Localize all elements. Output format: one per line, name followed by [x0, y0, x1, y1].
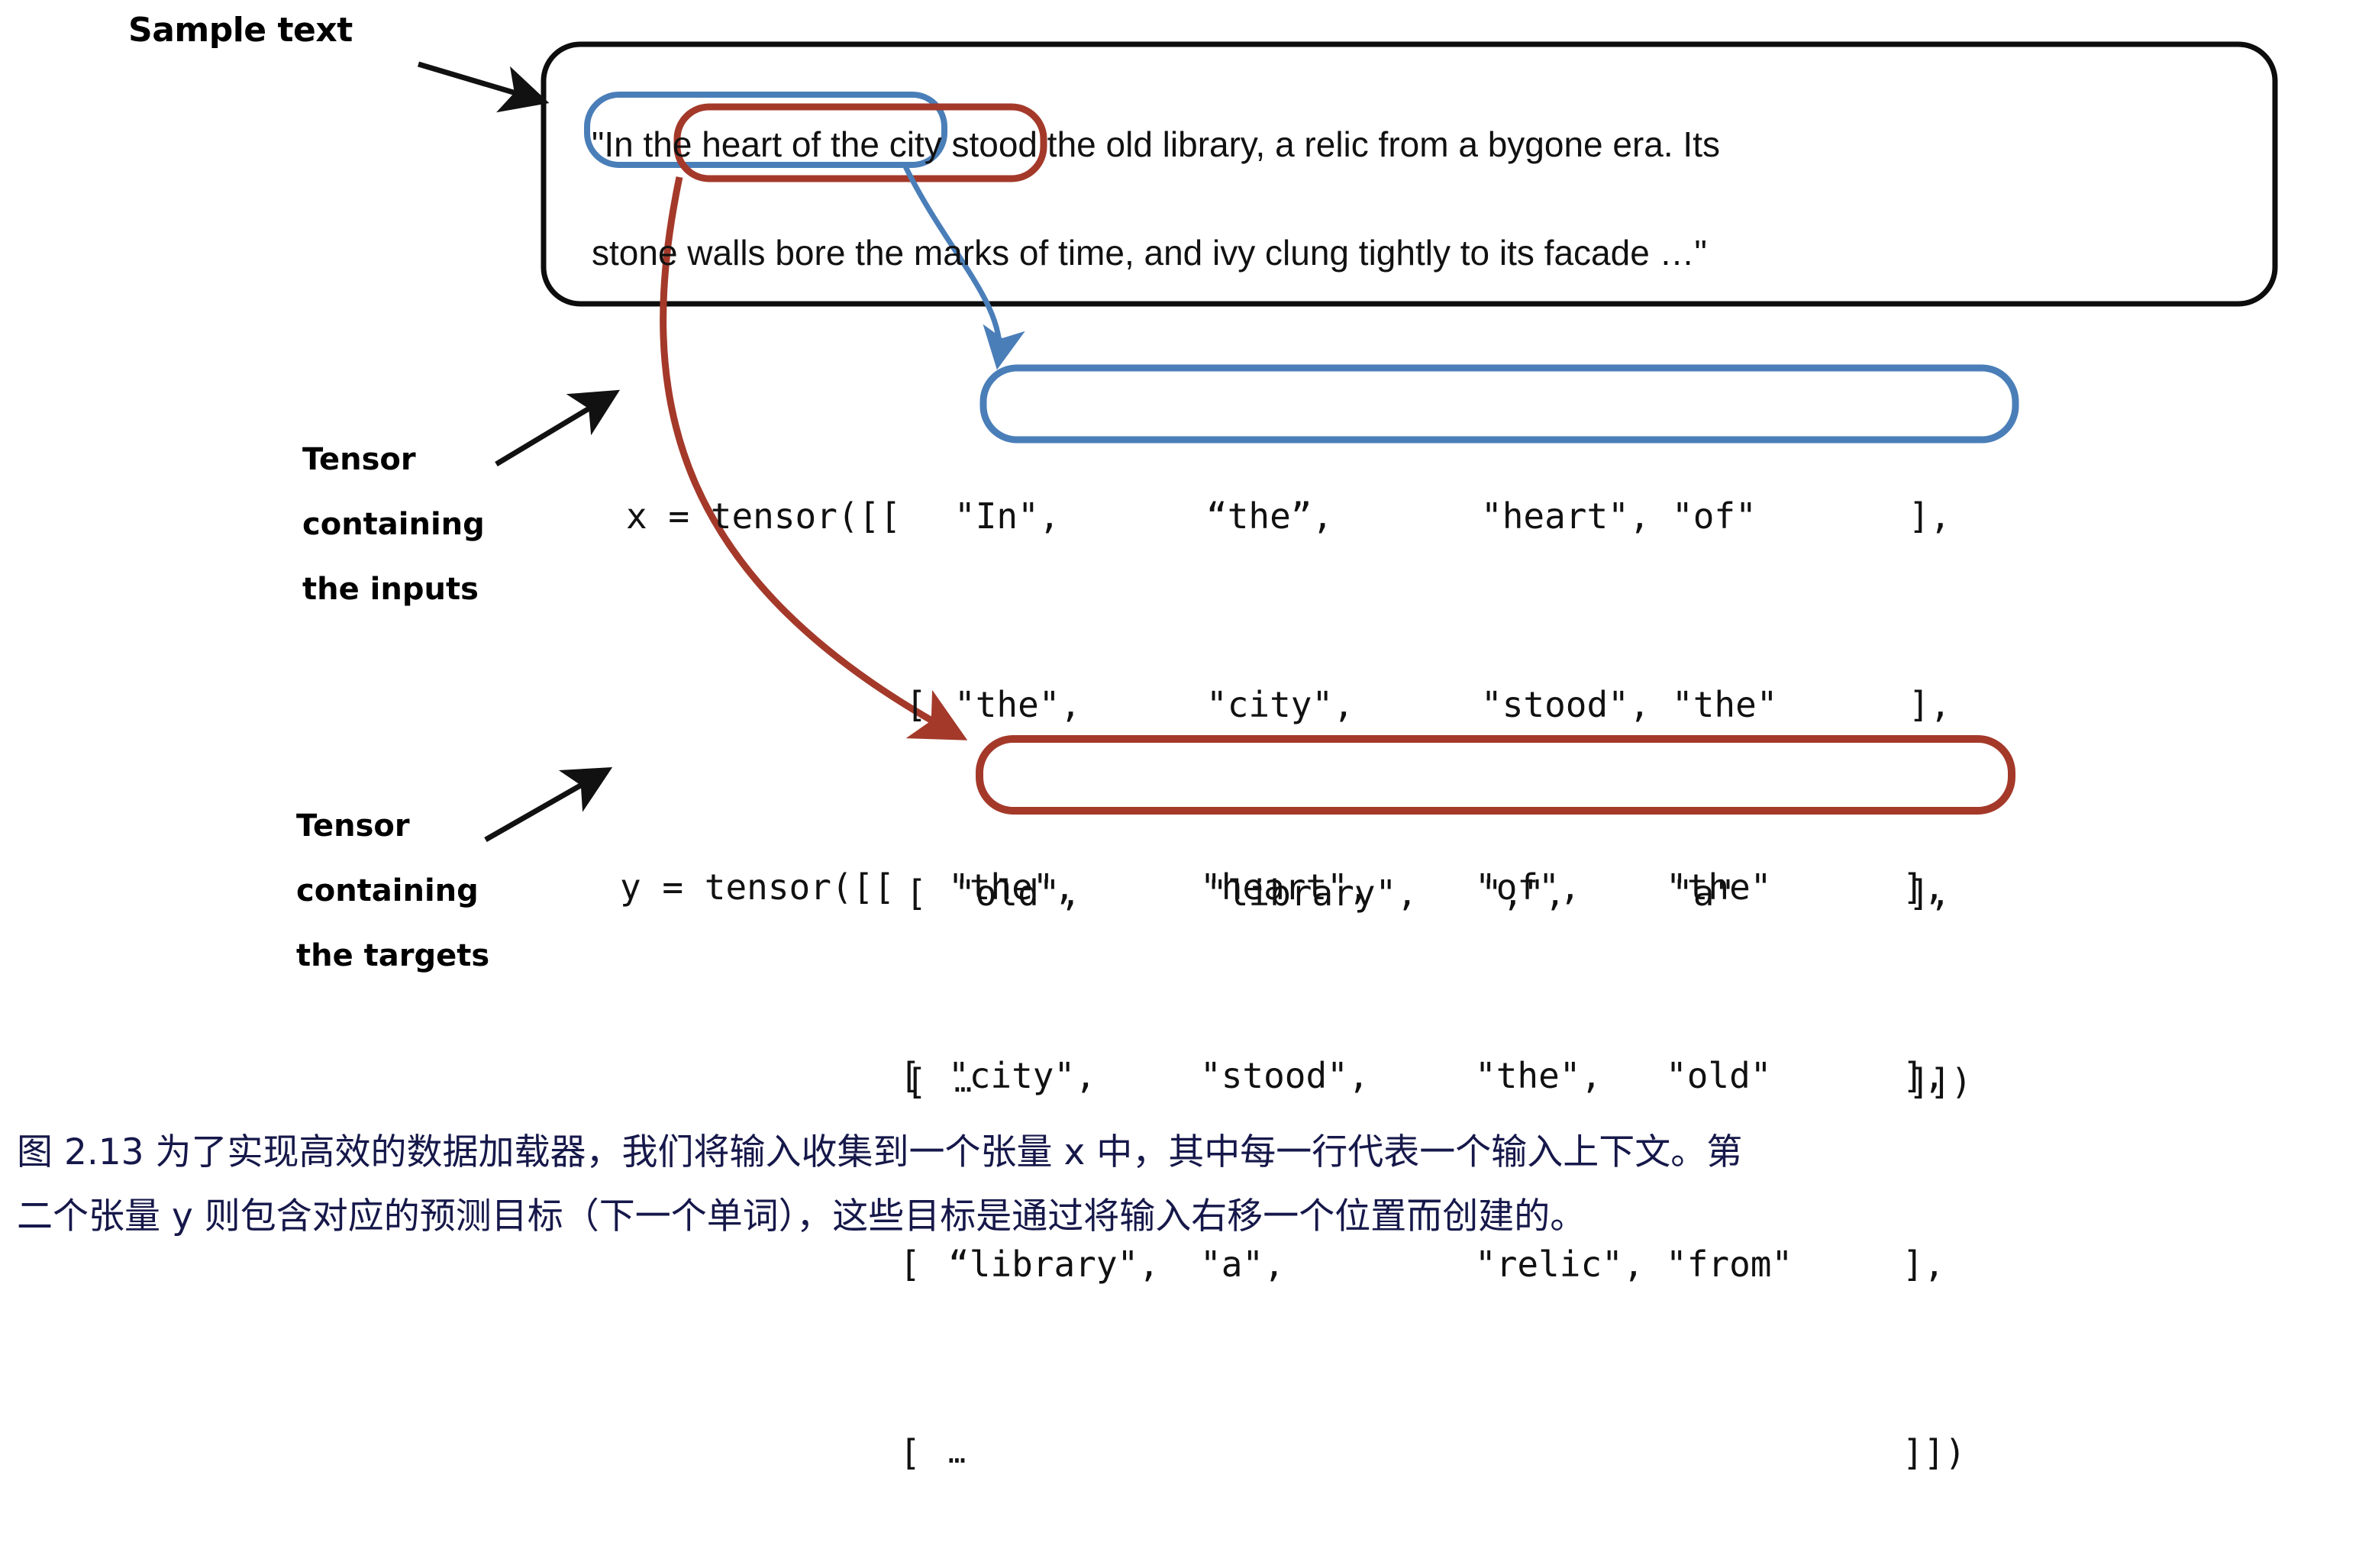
annotation-line: containing	[296, 859, 489, 924]
tensor-cell: "heart",	[1481, 484, 1672, 549]
tensor-cell: "old"	[1666, 1044, 1849, 1108]
tensor-cell: "the",	[1475, 1044, 1666, 1108]
tensor-row: x = tensor([[ "In", “the”, "heart", "of"…	[626, 484, 2000, 549]
sample-text-paragraph: "In the heart of the city stood the old …	[592, 90, 2294, 307]
tensor-row: y = tensor([[ "the", "heart", "of", "the…	[620, 855, 1994, 920]
tensor-row-suffix: ],	[1902, 855, 1994, 920]
tensor-cell: "stood",	[1200, 1044, 1475, 1108]
tensor-row: [ "the", "city", "stood", "the" ],	[626, 673, 2000, 737]
tensor-row-suffix: ],	[1909, 484, 2000, 549]
tensor-y-prefix: y = tensor([[	[620, 855, 948, 920]
tensor-cell: "heart",	[1200, 855, 1475, 920]
figure-2-13: Sample text "In the heart of the city st…	[0, 0, 2359, 1273]
tensor-cell: "of"	[1672, 484, 1855, 549]
annotation-line: the inputs	[302, 557, 485, 622]
tensor-cell: "the"	[1672, 673, 1855, 737]
annotation-line: the targets	[296, 924, 489, 989]
sample-text-label: Sample text	[128, 11, 353, 50]
tensor-row: [ … ]])	[620, 1421, 1994, 1486]
inputs-annotation-arrow	[496, 395, 611, 464]
targets-annotation-arrow	[486, 773, 603, 840]
tensor-row-suffix: ],	[1902, 1044, 1994, 1108]
sample-text-pointer-arrow	[418, 64, 539, 100]
tensor-cell: …	[948, 1421, 1200, 1486]
tensor-cell: "city",	[948, 1044, 1200, 1108]
annotation-tensor-targets: Tensor containing the targets	[296, 794, 489, 989]
annotation-line: Tensor	[296, 794, 489, 859]
tensor-cell: "In",	[954, 484, 1206, 549]
tensor-cell: "the",	[954, 673, 1206, 737]
tensor-row: [ "city", "stood", "the", "old" ],	[620, 1044, 1994, 1108]
annotation-line: Tensor	[302, 427, 485, 492]
caption-line-2: 二个张量 y 则包含对应的预测目标（下一个单词），这些目标是通过将输入右移一个位…	[17, 1185, 2345, 1249]
tensor-row-suffix: ]])	[1902, 1421, 1994, 1486]
tensor-cell: "city",	[1206, 673, 1481, 737]
tensor-cell: “the”,	[1206, 484, 1481, 549]
tensor-row-suffix: ],	[1909, 673, 2000, 737]
tensor-cell: "the",	[948, 855, 1200, 920]
annotation-tensor-inputs: Tensor containing the inputs	[302, 427, 485, 622]
tensor-x-prefix: x = tensor([[	[626, 484, 954, 549]
caption-line-1: 图 2.13 为了实现高效的数据加载器，我们将输入收集到一个张量 x 中，其中每…	[17, 1121, 2345, 1185]
tensor-cell: "of",	[1475, 855, 1666, 920]
annotation-line: containing	[302, 492, 485, 557]
sample-text-line-2: stone walls bore the marks of time, and …	[592, 198, 2294, 307]
tensor-row-bracket: [	[620, 1044, 948, 1108]
tensor-row-bracket: [	[626, 673, 954, 737]
tensor-cell: "stood",	[1481, 673, 1672, 737]
sample-text-line-1: "In the heart of the city stood the old …	[592, 124, 1720, 164]
tensor-row-bracket: [	[620, 1421, 948, 1486]
figure-caption: 图 2.13 为了实现高效的数据加载器，我们将输入收集到一个张量 x 中，其中每…	[17, 1121, 2345, 1249]
tensor-cell: "the"	[1666, 855, 1849, 920]
